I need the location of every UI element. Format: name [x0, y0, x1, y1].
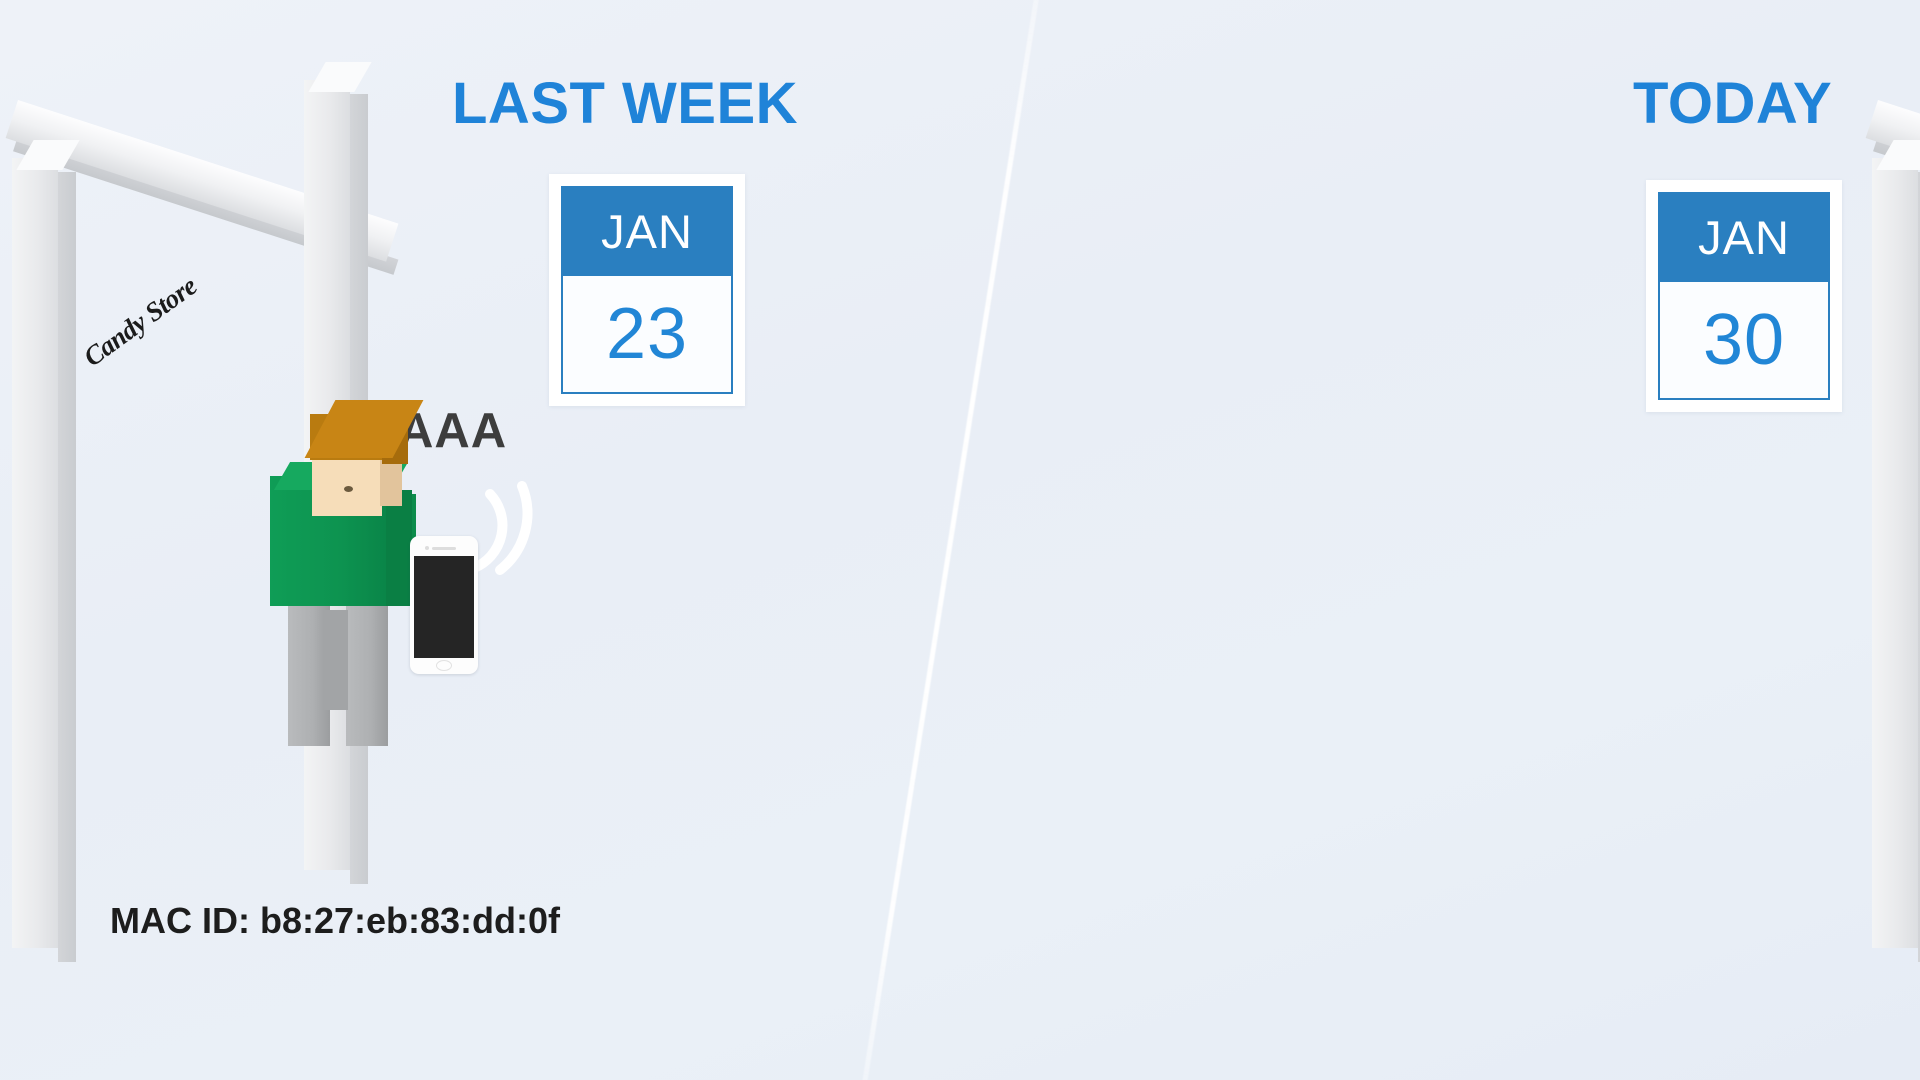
person-torso-side	[386, 490, 412, 606]
calendar-day: 30	[1660, 282, 1828, 398]
phone-home-button	[436, 660, 452, 671]
panel-last-week: LAST WEEK JAN 23 Candy Store AAA	[0, 0, 960, 1080]
smartphone-icon	[410, 536, 478, 674]
doorway-post-left-side	[58, 172, 76, 962]
calendar-month: JAN	[1660, 194, 1828, 282]
shop-sign-label: Candy Store	[78, 271, 203, 374]
person-eye	[344, 486, 353, 492]
person-face	[312, 454, 382, 516]
calendar-icon: JAN 23	[549, 174, 745, 406]
doorway-post-right-cap	[308, 62, 371, 92]
calendar-icon: JAN 30	[1646, 180, 1842, 412]
doorway-post-left	[12, 158, 58, 948]
phone-speaker	[432, 547, 456, 550]
phone-screen	[414, 556, 474, 658]
comparison-scene: LAST WEEK JAN 23 Candy Store AAA	[0, 0, 1920, 1080]
mac-id-label: MAC ID: b8:27:eb:83:dd:0f	[110, 900, 560, 942]
phone-camera	[425, 546, 429, 550]
panel-title: LAST WEEK	[452, 70, 798, 137]
calendar-day: 23	[563, 276, 731, 392]
panel-today: TODAY JAN 30 Candy Store AAA	[960, 0, 1920, 1080]
doorway-post-left	[1872, 158, 1918, 948]
person-leg-right	[346, 596, 388, 746]
panel-title: TODAY	[1633, 70, 1832, 137]
person-leg-gap	[324, 610, 348, 710]
calendar-month: JAN	[563, 188, 731, 276]
